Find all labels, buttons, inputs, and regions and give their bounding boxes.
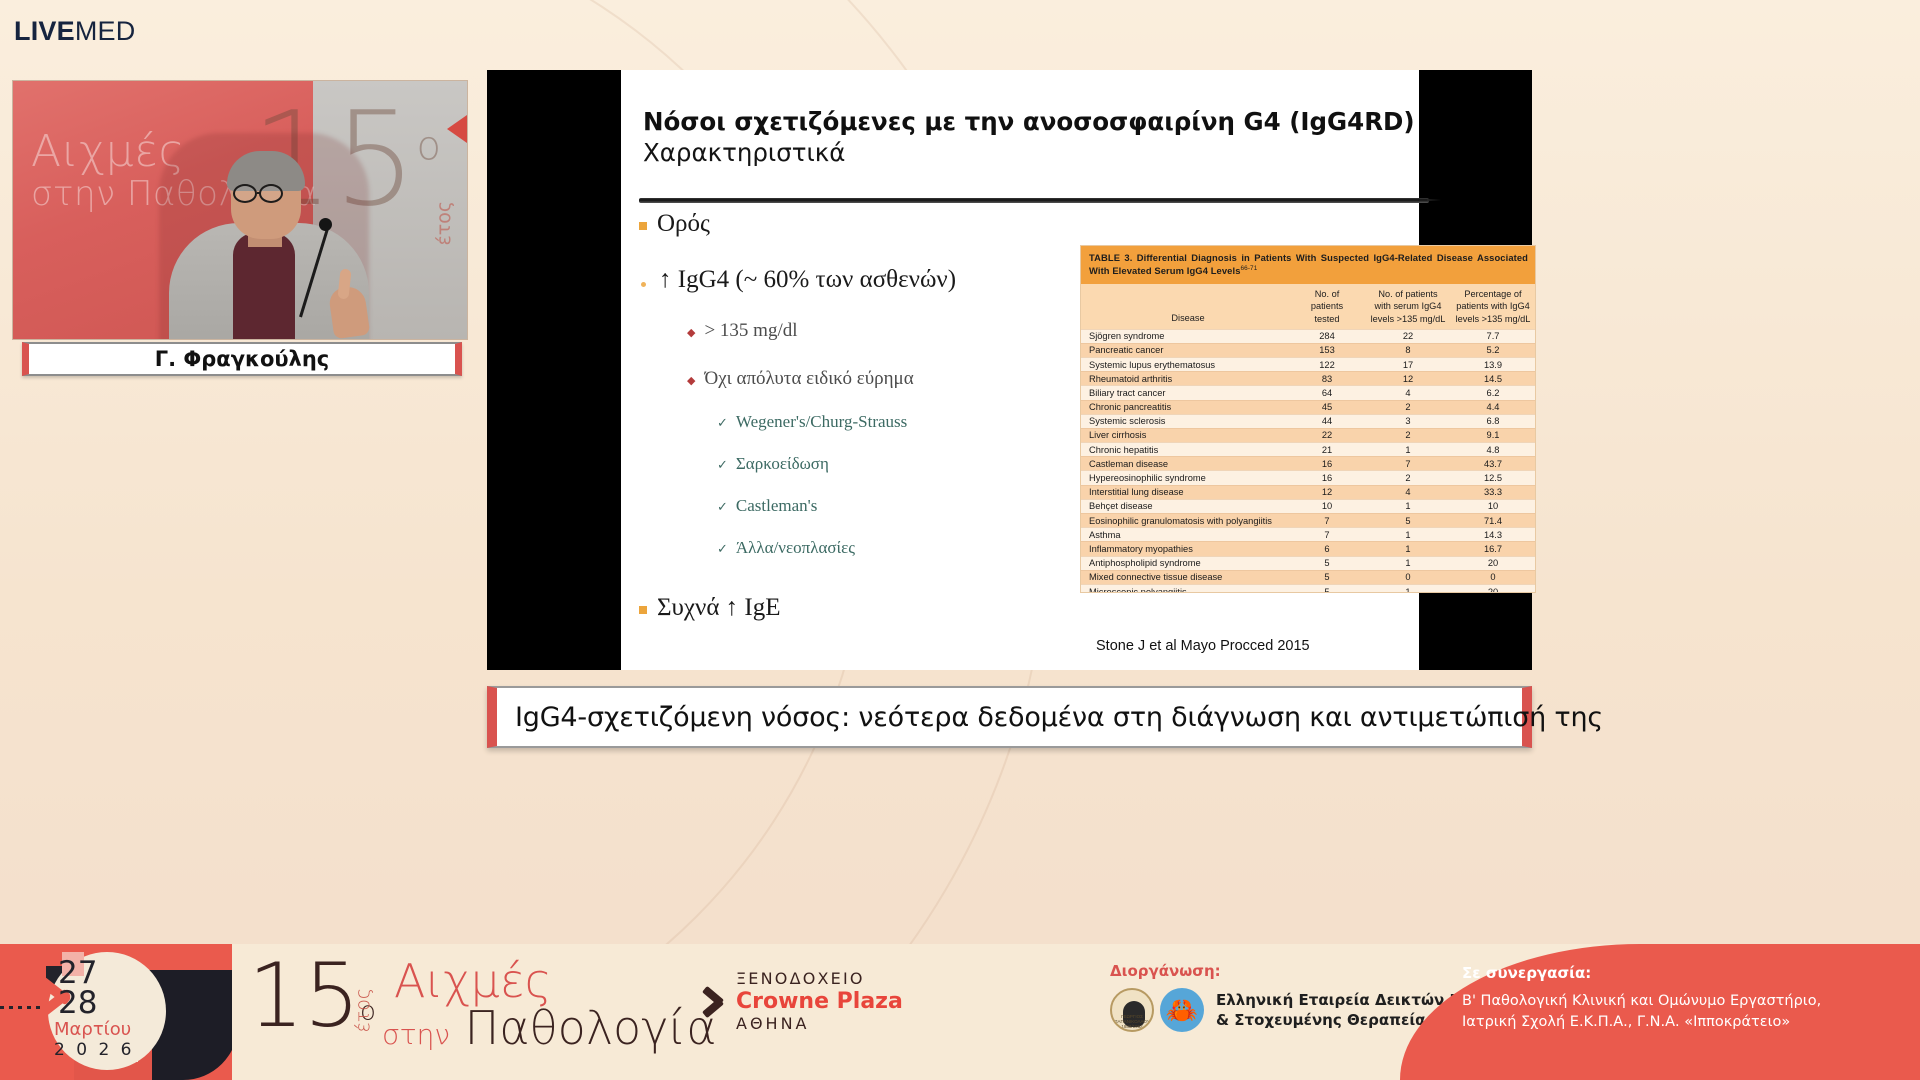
table-cell-value: 33.3 <box>1451 487 1535 497</box>
table-cell-value: 5.2 <box>1451 345 1535 355</box>
table-cell-disease: Systemic lupus erythematosus <box>1081 360 1289 370</box>
table-cell-value: 14.5 <box>1451 374 1535 384</box>
backdrop-degree: ο <box>417 124 441 170</box>
table-cell-disease: Hypereosinophilic syndrome <box>1081 473 1289 483</box>
table-row: Biliary tract cancer6446.2 <box>1081 385 1535 399</box>
chevron-right-icon <box>700 982 726 1022</box>
table-cell-value: 16 <box>1289 473 1365 483</box>
slide-title: Νόσοι σχετιζόμενες με την ανοσοσφαιρίνη … <box>643 108 1401 169</box>
table-row: Systemic lupus erythematosus1221713.9 <box>1081 357 1535 371</box>
table-cell-disease: Castleman disease <box>1081 459 1289 469</box>
speaker-name-plate: Γ. Φραγκούλης <box>22 342 462 376</box>
crab-glyph: 🦀 <box>1166 997 1198 1023</box>
bullet-text: Wegener's/Churg-Strauss <box>736 412 907 432</box>
bullet-item-sarcoidosis: ✓ Σαρκοείδωση <box>717 454 969 474</box>
bullet-item-igg4: ↑ IgG4 (~ 60% των ασθενών) <box>639 266 969 294</box>
table-cell-disease: Antiphospholipid syndrome <box>1081 558 1289 568</box>
slide-viewport[interactable]: Νόσοι σχετιζόμενες με την ανοσοσφαιρίνη … <box>487 70 1532 670</box>
table-cell-value: 7.7 <box>1451 331 1535 341</box>
table-cell-disease: Inflammatory myopathies <box>1081 544 1289 554</box>
table-cell-disease: Interstitial lung disease <box>1081 487 1289 497</box>
table-cell-disease: Microscopic polyangiitis <box>1081 587 1289 593</box>
table-row: Interstitial lung disease12433.3 <box>1081 485 1535 499</box>
table-row: Chronic pancreatitis4524.4 <box>1081 400 1535 414</box>
lecture-title-bar: IgG4-σχετιζόμενη νόσος: νεότερα δεδομένα… <box>487 686 1532 748</box>
table-cell-value: 4 <box>1365 388 1451 398</box>
table-cell-disease: Liver cirrhosis <box>1081 430 1289 440</box>
table-cell-value: 5 <box>1289 572 1365 582</box>
table-cell-value: 122 <box>1289 360 1365 370</box>
table-row: Microscopic polyangiitis5120 <box>1081 584 1535 593</box>
table-row: Behçet disease10110 <box>1081 499 1535 513</box>
table-cell-value: 64 <box>1289 388 1365 398</box>
table-cell-value: 7 <box>1289 530 1365 540</box>
glasses-right-lens <box>259 184 283 203</box>
table-cell-disease: Systemic sclerosis <box>1081 416 1289 426</box>
table-cell-value: 12.5 <box>1451 473 1535 483</box>
table-cell-disease: Chronic pancreatitis <box>1081 402 1289 412</box>
logo-live-text: LIVE <box>14 16 75 46</box>
table-cell-value: 3 <box>1365 416 1451 426</box>
table-cell-value: 1 <box>1365 544 1451 554</box>
table-cell-disease: Pancreatic cancer <box>1081 345 1289 355</box>
table-cell-disease: Chronic hepatitis <box>1081 445 1289 455</box>
bullet-item-wegener: ✓ Wegener's/Churg-Strauss <box>717 412 969 432</box>
bullet-item-threshold: ◆ > 135 mg/dl <box>687 320 969 342</box>
table-cell-value: 43.7 <box>1451 459 1535 469</box>
table-cell-value: 7 <box>1365 459 1451 469</box>
microphone-head <box>319 218 332 231</box>
table-row: Pancreatic cancer15385.2 <box>1081 343 1535 357</box>
table-cell-value: 8 <box>1365 345 1451 355</box>
table-cell-disease: Behçet disease <box>1081 501 1289 511</box>
date-day-2: 28 <box>58 988 160 1018</box>
table-cell-value: 12 <box>1289 487 1365 497</box>
square-bullet-icon <box>639 606 647 614</box>
slide-title-line2: Χαρακτηριστικά <box>643 137 1401 169</box>
table-body: Sjögren syndrome284227.7Pancreatic cance… <box>1081 329 1535 593</box>
bullet-text: Σαρκοείδωση <box>736 454 829 474</box>
check-bullet-icon: ✓ <box>717 415 728 431</box>
table-cell-value: 2 <box>1365 430 1451 440</box>
table-row: Eosinophilic granulomatosis with polyang… <box>1081 513 1535 527</box>
bullet-item-castleman: ✓ Castleman's <box>717 496 969 516</box>
table-row: Sjögren syndrome284227.7 <box>1081 329 1535 343</box>
event-date: 27 28 Μαρτίου 2 0 2 6 <box>54 958 160 1060</box>
table-row: Liver cirrhosis2229.1 <box>1081 428 1535 442</box>
table-cell-value: 17 <box>1365 360 1451 370</box>
table-row: Asthma7114.3 <box>1081 527 1535 541</box>
bullet-text: Συχνά ↑ IgE <box>657 594 781 622</box>
table-cell-value: 10 <box>1289 501 1365 511</box>
table-cell-value: 0 <box>1365 572 1451 582</box>
papanikolaou-seal-icon: ΓΕΩΡΓΙΟΣ ΠΑΠΑΝΙΚΟΛΑΟΥ 1883/1962 <box>1110 988 1154 1032</box>
speaker-figure <box>153 113 383 339</box>
page-root: LIVEMED Αιχμές στην Παθολογία 15ο έτος <box>0 0 1920 1080</box>
table-cell-disease: Asthma <box>1081 530 1289 540</box>
diamond-bullet-icon: ◆ <box>687 326 695 339</box>
bullet-text: Ορός <box>657 210 710 238</box>
bullet-text: Άλλα/νεοπλασίες <box>736 538 855 558</box>
bullet-text: ↑ IgG4 (~ 60% των ασθενών) <box>659 266 956 294</box>
table-cell-value: 44 <box>1289 416 1365 426</box>
table-cell-disease: Rheumatoid arthritis <box>1081 374 1289 384</box>
dot-bullet-icon <box>641 282 646 287</box>
journal-table: TABLE 3. Differential Diagnosis in Patie… <box>1080 245 1536 593</box>
table-cell-value: 5 <box>1365 516 1451 526</box>
table-cell-value: 22 <box>1365 331 1451 341</box>
table-cell-value: 1 <box>1365 445 1451 455</box>
cooperation-text: Β' Παθολογική Κλινική και Ομώνυμο Εργαστ… <box>1462 991 1821 1033</box>
event-name-small: στην <box>382 1018 450 1051</box>
speaker-shirt <box>233 233 295 339</box>
date-month: Μαρτίου <box>54 1019 160 1040</box>
table-cell-value: 7 <box>1289 516 1365 526</box>
slide-bullet-list: Ορός ↑ IgG4 (~ 60% των ασθενών) ◆ > 135 … <box>639 208 969 622</box>
table-cell-value: 153 <box>1289 345 1365 355</box>
crab-logo-icon: 🦀 <box>1160 988 1204 1032</box>
bullet-item-other: ✓ Άλλα/νεοπλασίες <box>717 538 969 558</box>
table-row: Antiphospholipid syndrome5120 <box>1081 556 1535 570</box>
table-cell-value: 6.2 <box>1451 388 1535 398</box>
date-year: 2 0 2 6 <box>54 1040 160 1060</box>
table-header-row: DiseaseNo. ofpatientstestedNo. of patien… <box>1081 284 1535 329</box>
backdrop-red-tab <box>447 115 467 143</box>
table-cell-value: 16 <box>1289 459 1365 469</box>
table-cell-value: 45 <box>1289 402 1365 412</box>
event-footer: 27 28 Μαρτίου 2 0 2 6 15ο έτος Αιχμές στ… <box>0 944 1920 1080</box>
table-column-header: Disease <box>1081 288 1289 326</box>
venue-label: ΞΕΝΟΔΟΧΕΙΟ <box>736 970 903 989</box>
table-cell-value: 2 <box>1365 402 1451 412</box>
table-row: Rheumatoid arthritis831214.5 <box>1081 371 1535 385</box>
speaker-video[interactable]: Αιχμές στην Παθολογία 15ο έτος <box>12 80 468 340</box>
table-column-header: Percentage ofpatients with IgG4levels >1… <box>1451 288 1535 326</box>
table-cell-value: 1 <box>1365 558 1451 568</box>
table-cell-value: 1 <box>1365 501 1451 511</box>
date-day-1: 27 <box>58 958 160 988</box>
table-cell-value: 5 <box>1289 558 1365 568</box>
bullet-item-nonspecific: ◆ Όχι απόλυτα ειδικό εύρημα <box>687 368 969 390</box>
table-cell-value: 4 <box>1365 487 1451 497</box>
table-column-header: No. ofpatientstested <box>1289 288 1365 326</box>
cooperation-line1: Β' Παθολογική Κλινική και Ομώνυμο Εργαστ… <box>1462 991 1821 1012</box>
event-name-line1: Αιχμές <box>394 958 717 1004</box>
table-cell-value: 1 <box>1365 587 1451 593</box>
edition-number: 15 <box>248 944 360 1047</box>
table-column-header: No. of patientswith serum IgG4levels >13… <box>1365 288 1451 326</box>
footer-venue: ΞΕΝΟΔΟΧΕΙΟ Crowne Plaza ΑΘΗΝΑ <box>700 970 903 1034</box>
logo-med-text: MED <box>75 16 136 46</box>
edition-etos: έτος <box>352 988 374 1033</box>
bullet-text: > 135 mg/dl <box>704 320 797 342</box>
table-row: Hypereosinophilic syndrome16212.5 <box>1081 470 1535 484</box>
table-cell-value: 16.7 <box>1451 544 1535 554</box>
event-name-line2: στην Παθολογία <box>382 1004 717 1052</box>
cooperation-label: Σε συνεργασία: <box>1462 964 1821 982</box>
bullet-text: Όχι απόλυτα ειδικό εύρημα <box>704 368 913 390</box>
table-cell-value: 71.4 <box>1451 516 1535 526</box>
event-name-main: Παθολογία <box>465 1001 717 1055</box>
table-cell-value: 4.4 <box>1451 402 1535 412</box>
table-cell-value: 5 <box>1289 587 1365 593</box>
table-cell-value: 20 <box>1451 587 1535 593</box>
bullet-text: Castleman's <box>736 496 817 516</box>
table-cell-value: 6.8 <box>1451 416 1535 426</box>
table-cell-value: 13.9 <box>1451 360 1535 370</box>
table-cell-value: 284 <box>1289 331 1365 341</box>
venue-city: ΑΘΗΝΑ <box>736 1015 903 1034</box>
venue-lines: ΞΕΝΟΔΟΧΕΙΟ Crowne Plaza ΑΘΗΝΑ <box>736 970 903 1034</box>
table-cell-value: 22 <box>1289 430 1365 440</box>
footer-cooperation-panel: Σε συνεργασία: Β' Παθολογική Κλινική και… <box>1400 944 1920 1080</box>
bullet-item-ige: Συχνά ↑ IgE <box>639 594 969 622</box>
glasses-bridge <box>257 192 261 195</box>
cooperation-line2: Ιατρική Σχολή Ε.Κ.Π.Α., Γ.Ν.Α. «Ιπποκράτ… <box>1462 1012 1821 1033</box>
table-caption: TABLE 3. Differential Diagnosis in Patie… <box>1081 246 1535 284</box>
check-bullet-icon: ✓ <box>717 457 728 473</box>
table-cell-value: 10 <box>1451 501 1535 511</box>
slide-citation: Stone J et al Mayo Procced 2015 <box>1096 638 1310 654</box>
table-row: Chronic hepatitis2114.8 <box>1081 442 1535 456</box>
slide-canvas: Νόσοι σχετιζόμενες με την ανοσοσφαιρίνη … <box>621 70 1419 670</box>
table-row: Castleman disease16743.7 <box>1081 456 1535 470</box>
table-cell-disease: Eosinophilic granulomatosis with polyang… <box>1081 516 1289 526</box>
table-cell-disease: Mixed connective tissue disease <box>1081 572 1289 582</box>
table-cell-value: 0 <box>1451 572 1535 582</box>
footer-date-panel: 27 28 Μαρτίου 2 0 2 6 <box>0 944 232 1080</box>
square-bullet-icon <box>639 222 647 230</box>
cooperation-block: Σε συνεργασία: Β' Παθολογική Κλινική και… <box>1462 964 1821 1033</box>
speaker-name-text: Γ. Φραγκούλης <box>155 347 330 371</box>
table-cell-value: 83 <box>1289 374 1365 384</box>
seal-caption: ΓΕΩΡΓΙΟΣ ΠΑΠΑΝΙΚΟΛΑΟΥ 1883/1962 <box>1112 1014 1152 1029</box>
footer-edition-logo: 15ο έτος <box>248 952 376 1040</box>
table-cell-value: 14.3 <box>1451 530 1535 540</box>
table-cell-disease: Sjögren syndrome <box>1081 331 1289 341</box>
table-row: Inflammatory myopathies6116.7 <box>1081 541 1535 555</box>
table-cell-value: 12 <box>1365 374 1451 384</box>
venue-name: Crowne Plaza <box>736 989 903 1015</box>
check-bullet-icon: ✓ <box>717 499 728 515</box>
table-cell-value: 1 <box>1365 530 1451 540</box>
table-row: Mixed connective tissue disease500 <box>1081 570 1535 584</box>
slide-title-rule <box>639 198 1429 203</box>
lecture-title-text: IgG4-σχετιζόμενη νόσος: νεότερα δεδομένα… <box>497 702 1603 733</box>
slide-title-line1: Νόσοι σχετιζόμενες με την ανοσοσφαιρίνη … <box>643 108 1401 137</box>
table-caption-refs: 66-71 <box>1241 265 1258 272</box>
glasses-left-lens <box>233 184 257 203</box>
table-cell-value: 2 <box>1365 473 1451 483</box>
table-cell-value: 21 <box>1289 445 1365 455</box>
speaker-video-frame: Αιχμές στην Παθολογία 15ο έτος <box>13 81 467 339</box>
table-cell-value: 6 <box>1289 544 1365 554</box>
table-cell-value: 9.1 <box>1451 430 1535 440</box>
livemed-logo[interactable]: LIVEMED <box>14 16 135 47</box>
diamond-bullet-icon: ◆ <box>687 374 695 387</box>
table-row: Systemic sclerosis4436.8 <box>1081 414 1535 428</box>
footer-event-name: Αιχμές στην Παθολογία <box>382 958 717 1052</box>
table-cell-value: 20 <box>1451 558 1535 568</box>
table-cell-value: 4.8 <box>1451 445 1535 455</box>
backdrop-etos: έτος <box>433 201 455 246</box>
bullet-item-oros: Ορός <box>639 210 969 238</box>
check-bullet-icon: ✓ <box>717 541 728 557</box>
table-cell-disease: Biliary tract cancer <box>1081 388 1289 398</box>
